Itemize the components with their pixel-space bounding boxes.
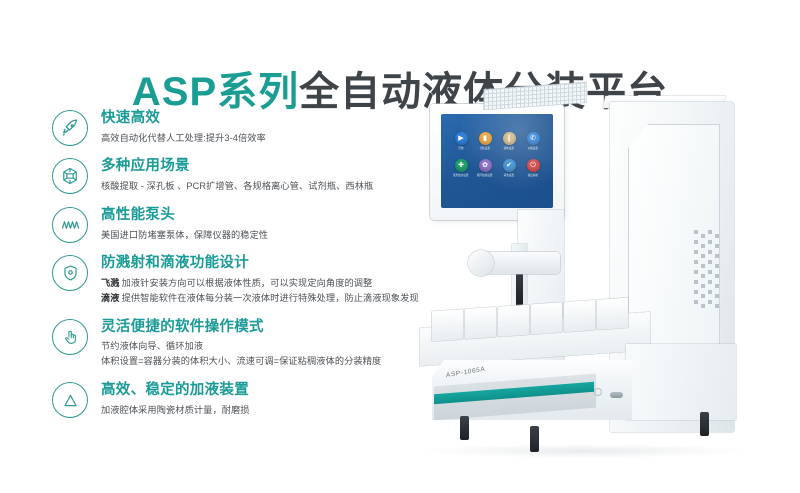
feature-desc-label: 滴液 (101, 293, 120, 303)
feature-desc-label: 飞溅 (101, 278, 120, 288)
app-caption: 清洗设置 (504, 174, 514, 177)
tube-rack (531, 302, 562, 334)
app-caption: 循环加液设置 (477, 174, 493, 177)
feature-item-dispenser: 高效、稳定的加液装置 加液腔体采用陶瓷材质计量，耐磨损 (52, 380, 402, 417)
app-icon-cycle[interactable]: ✿ 循环加液设置 (473, 159, 497, 177)
app-icon-dispense[interactable]: ▮ 分装设置 (473, 132, 497, 150)
connector-port (610, 392, 623, 398)
triangle-icon (52, 382, 88, 418)
feature-list: 快速高效 高效自动化代替人工处理:提升3-4倍效率 多种应用场景 核酸提取 - (52, 108, 402, 429)
app-caption: 开始 (458, 147, 463, 150)
feature-desc: 核酸提取 - 深孔板 、PCR扩增管、各规格离心管、试剂瓶、西林瓶 (101, 179, 402, 194)
feature-title: 多种应用场景 (101, 157, 402, 177)
feature-desc-text: 高效自动化代替人工处理:提升3-4倍效率 (101, 133, 266, 143)
cube-icon (52, 158, 88, 194)
tube-rack (432, 309, 463, 341)
feature-desc: 加液腔体采用陶瓷材质计量，耐磨损 (101, 403, 402, 418)
app-icon-power[interactable]: ⏻ 退出系统 (521, 159, 545, 177)
feature-body: 防溅射和滴液功能设计 飞溅加液针安装方向可以根据液体性质，可以实现定向角度的调整… (101, 253, 402, 305)
feature-body: 高效、稳定的加液装置 加液腔体采用陶瓷材质计量，耐磨损 (101, 380, 402, 417)
tube-rack (465, 307, 496, 339)
tube-rack (498, 305, 529, 337)
feature-desc-text: 美国进口防堵塞泵体，保障仪器的稳定性 (101, 230, 268, 240)
feature-desc-text: 节约液体向导、循环加液 (101, 341, 203, 351)
feature-title: 快速高效 (101, 109, 402, 129)
feature-item-software: 灵活便捷的软件操作模式 节约液体向导、循环加液 体积设置=容器分装的体积大小、流… (52, 317, 402, 369)
feature-desc-text: 体积设置=容器分装的体积大小、流速可调=保证粘稠液体的分装精度 (101, 356, 381, 366)
start-app-icon[interactable]: ▶ (455, 132, 468, 145)
app-icon-clean[interactable]: ✔ 清洗设置 (497, 159, 521, 177)
clean-app-icon[interactable]: ✔ (503, 159, 516, 172)
app-caption: 仪器设置 (528, 147, 538, 150)
gantry-end-cap (468, 250, 494, 276)
system-app-icon[interactable]: ✆ (527, 132, 540, 145)
feature-title: 灵活便捷的软件操作模式 (101, 318, 402, 338)
feature-desc-text: 核酸提取 - 深孔板 、PCR扩增管、各规格离心管、试剂瓶、西林瓶 (101, 181, 373, 191)
app-icon-add-liquid[interactable]: ✚ 试剂加注设置 (449, 159, 473, 177)
dispense-app-icon[interactable]: ▮ (479, 132, 492, 145)
liquid-app-icon[interactable]: ❙ (503, 132, 516, 145)
feature-body: 快速高效 高效自动化代替人工处理:提升3-4倍效率 (101, 108, 402, 145)
feature-desc-text: 加液腔体采用陶瓷材质计量，耐磨损 (101, 405, 250, 415)
feature-desc-text: 提供智能软件在液体每分装一次液体时进行特殊处理，防止滴液现象发现 (122, 293, 419, 303)
product-shadow (418, 444, 748, 458)
app-caption: 退出系统 (528, 174, 538, 177)
waveform-icon (52, 207, 88, 243)
feature-title: 高效、稳定的加液装置 (101, 381, 402, 401)
cycle-app-icon[interactable]: ✿ (479, 159, 492, 172)
app-caption: 试剂加注设置 (453, 174, 469, 177)
feature-desc: 高效自动化代替人工处理:提升3-4倍效率 (101, 131, 402, 146)
feature-body: 灵活便捷的软件操作模式 节约液体向导、循环加液 体积设置=容器分装的体积大小、流… (101, 317, 402, 369)
power-app-icon[interactable]: ⏻ (527, 159, 540, 172)
feature-title: 防溅射和滴液功能设计 (101, 254, 402, 274)
app-caption: 分装设置 (480, 147, 490, 150)
touchscreen-display[interactable]: ▶ 开始 ▮ 分装设置 ❙ 液体设置 ✆ 仪器设置 (441, 114, 553, 208)
rocket-icon (52, 110, 88, 146)
feature-title: 高性能泵头 (101, 206, 402, 226)
machine-side-panel (626, 344, 736, 420)
machine-foot (460, 416, 469, 440)
machine-foot (530, 426, 539, 452)
feature-body: 多种应用场景 核酸提取 - 深孔板 、PCR扩增管、各规格离心管、试剂瓶、西林瓶 (101, 156, 402, 193)
feature-item-fast: 快速高效 高效自动化代替人工处理:提升3-4倍效率 (52, 108, 402, 145)
tube-rack (564, 300, 595, 332)
hand-tap-icon (52, 319, 88, 355)
feature-desc-text: 加液针安装方向可以根据液体性质，可以实现定向角度的调整 (122, 278, 373, 288)
machine-foot (700, 412, 709, 436)
product-image: ▶ 开始 ▮ 分装设置 ❙ 液体设置 ✆ 仪器设置 (398, 92, 798, 492)
add-liquid-app-icon[interactable]: ✚ (455, 159, 468, 172)
touchscreen-housing: ▶ 开始 ▮ 分装设置 ❙ 液体设置 ✆ 仪器设置 (430, 104, 564, 220)
app-icon-system[interactable]: ✆ 仪器设置 (521, 132, 545, 150)
app-grid: ▶ 开始 ▮ 分装设置 ❙ 液体设置 ✆ 仪器设置 (449, 132, 545, 177)
feature-item-scenarios: 多种应用场景 核酸提取 - 深孔板 、PCR扩增管、各规格离心管、试剂瓶、西林瓶 (52, 156, 402, 193)
feature-body: 高性能泵头 美国进口防堵塞泵体，保障仪器的稳定性 (101, 205, 402, 242)
feature-desc: 节约液体向导、循环加液 体积设置=容器分装的体积大小、流速可调=保证粘稠液体的分… (101, 339, 402, 369)
feature-item-antisplash: 防溅射和滴液功能设计 飞溅加液针安装方向可以根据液体性质，可以实现定向角度的调整… (52, 253, 402, 305)
indicator-port (594, 388, 602, 396)
feature-item-pump: 高性能泵头 美国进口防堵塞泵体，保障仪器的稳定性 (52, 205, 402, 242)
product-poster: ASP系列全自动液体分装平台 快速高效 高效自动化代替人工处理:提升3-4倍效率 (0, 0, 800, 493)
ventilation-slots (694, 230, 724, 310)
tube-rack (597, 298, 628, 330)
shield-icon (52, 255, 88, 291)
app-caption: 液体设置 (504, 147, 514, 150)
app-icon-liquid[interactable]: ❙ 液体设置 (497, 132, 521, 150)
feature-desc: 飞溅加液针安装方向可以根据液体性质，可以实现定向角度的调整 滴液提供智能软件在液… (101, 276, 402, 306)
feature-desc: 美国进口防堵塞泵体，保障仪器的稳定性 (101, 228, 402, 243)
app-icon-start[interactable]: ▶ 开始 (449, 132, 473, 150)
